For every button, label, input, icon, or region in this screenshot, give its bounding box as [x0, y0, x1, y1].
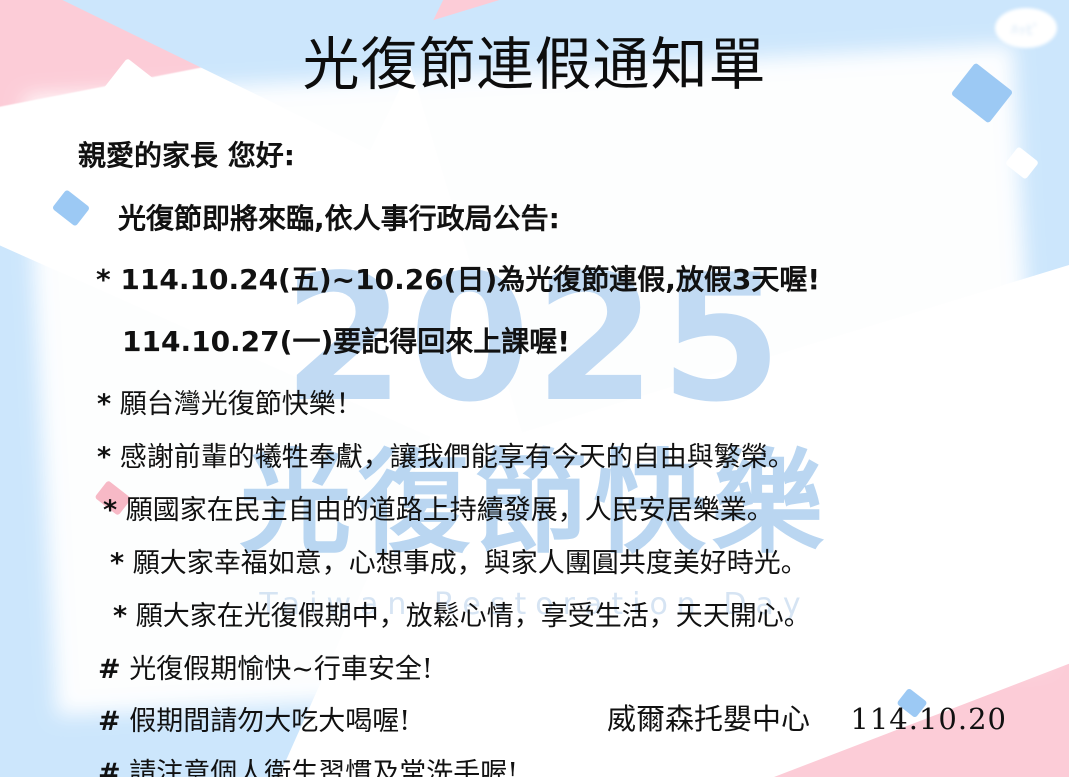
bullet-asterisk: *	[113, 601, 127, 632]
return-to-school-text: 114.10.27(一)要記得回來上課喔!	[122, 325, 570, 358]
bullet-asterisk: *	[97, 389, 111, 420]
holiday-date-line-2: 114.10.27(一)要記得回來上課喔!	[0, 320, 1069, 360]
wish-line-1: * 願台灣光復節快樂！	[0, 382, 1069, 421]
bullet-hash: #	[98, 706, 121, 737]
wish-line-2: * 感謝前輩的犧牲奉獻，讓我們能享有今天的自由與繁榮。	[0, 435, 1069, 474]
page-title: 光復節連假通知單	[0, 36, 1069, 96]
wish-line-4: * 願大家幸福如意，心想事成，與家人團圓共度美好時光。	[0, 541, 1069, 580]
bullet-asterisk: *	[110, 548, 124, 579]
wish-text-2: 感謝前輩的犧牲奉獻，讓我們能享有今天的自由與繁榮。	[120, 442, 795, 473]
bullet-asterisk: *	[96, 263, 111, 296]
bullet-hash: #	[98, 654, 121, 685]
greeting-line: 親愛的家長 您好:	[0, 134, 1069, 174]
content-layer: 光復節連假通知單 親愛的家長 您好: 光復節即將來臨,依人事行政局公告: * 1…	[0, 0, 1069, 777]
holiday-date-text-1: 114.10.24(五)~10.26(日)為光復節連假,放假3天喔!	[120, 263, 820, 296]
bullet-asterisk: *	[97, 442, 111, 473]
bullet-asterisk: *	[103, 495, 117, 526]
reminder-text-3: 請注意個人衛生習慣及常洗手喔!	[129, 758, 518, 777]
wish-text-4: 願大家幸福如意，心想事成，與家人團圓共度美好時光。	[133, 548, 808, 579]
organization-name: 威爾森托嬰中心	[607, 702, 810, 736]
reminder-line-3: # 請注意個人衛生習慣及常洗手喔!	[0, 751, 1069, 777]
reminder-text-1: 光復假期愉快~行車安全!	[129, 654, 432, 685]
wish-text-5: 願大家在光復假期中，放鬆心情，享受生活，天天開心。	[136, 601, 811, 632]
wish-text-1: 願台灣光復節快樂！	[120, 389, 363, 420]
intro-line: 光復節即將來臨,依人事行政局公告:	[0, 197, 1069, 237]
bullet-hash: #	[98, 758, 121, 777]
wish-line-5: * 願大家在光復假期中，放鬆心情，享受生活，天天開心。	[0, 594, 1069, 633]
reminder-line-1: # 光復假期愉快~行車安全!	[0, 647, 1069, 686]
notice-body: 親愛的家長 您好: 光復節即將來臨,依人事行政局公告: * 114.10.24(…	[0, 134, 1069, 777]
holiday-date-line-1: * 114.10.24(五)~10.26(日)為光復節連假,放假3天喔!	[0, 258, 1069, 298]
wish-line-3: * 願國家在民主自由的道路上持續發展，人民安居樂業。	[0, 488, 1069, 527]
footer-date: 114.10.20	[850, 702, 1007, 736]
notice-poster: ﾊｯﾋﾟ 2025 光復節快樂 Taiwan Restoration Day 光…	[0, 0, 1069, 777]
wish-text-3: 願國家在民主自由的道路上持續發展，人民安居樂業。	[126, 495, 774, 526]
reminder-text-2: 假期間請勿大吃大喝喔!	[129, 706, 410, 737]
footer-signature: 威爾森托嬰中心 114.10.20	[607, 696, 1007, 738]
